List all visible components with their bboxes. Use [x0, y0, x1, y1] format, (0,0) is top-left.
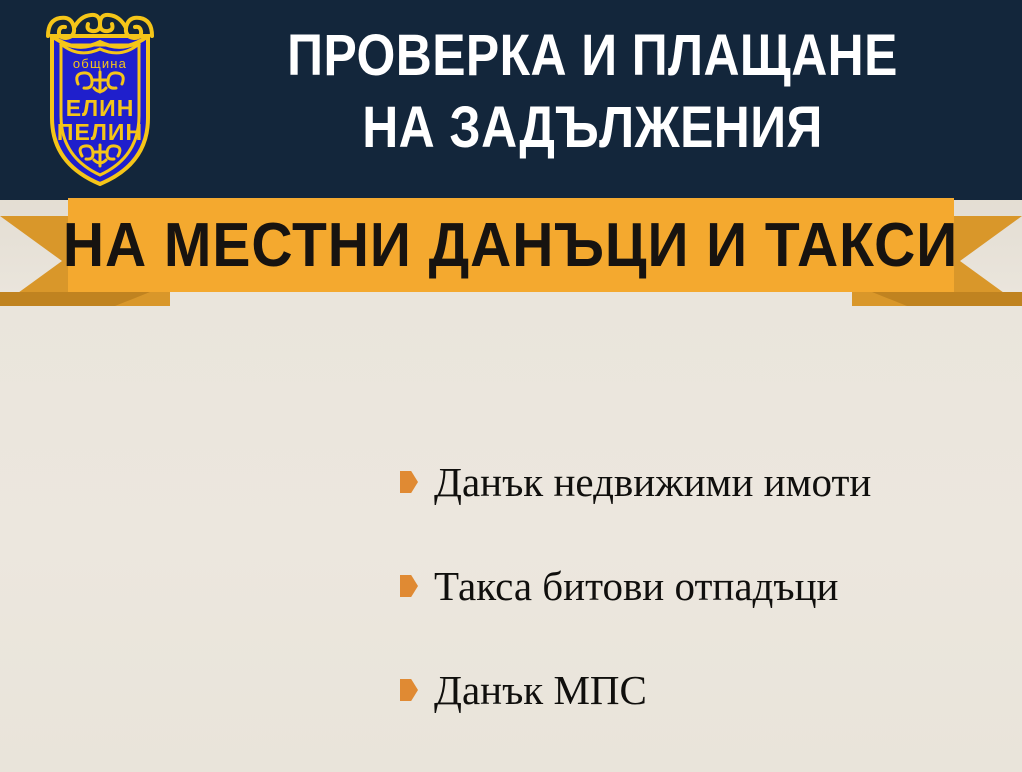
svg-text:ЕЛИН: ЕЛИН	[66, 95, 135, 121]
ribbon-subtitle: НА МЕСТНИ ДАНЪЦИ И ТАКСИ	[63, 210, 958, 281]
arrow-bullet-icon	[400, 575, 418, 597]
list-item-label: Данък недвижими имоти	[434, 458, 871, 506]
list-item[interactable]: Данък МПС	[400, 638, 1010, 742]
poster-canvas: ПРОВЕРКА И ПЛАЩАНЕ НА ЗАДЪЛЖЕНИЯ община	[0, 0, 1022, 772]
list-item-label: Данък МПС	[434, 666, 647, 714]
page-title: ПРОВЕРКА И ПЛАЩАНЕ НА ЗАДЪЛЖЕНИЯ	[233, 20, 951, 164]
list-item[interactable]: Такса битови отпадъци	[400, 534, 1010, 638]
ribbon-main-panel: НА МЕСТНИ ДАНЪЦИ И ТАКСИ	[68, 198, 954, 292]
municipality-logo: община ЕЛИН ПЕЛИН	[30, 6, 170, 191]
list-item[interactable]: Данък недвижими имоти	[400, 430, 1010, 534]
arrow-bullet-icon	[400, 679, 418, 701]
svg-text:община: община	[73, 56, 127, 71]
ribbon-banner: НА МЕСТНИ ДАНЪЦИ И ТАКСИ	[0, 196, 1022, 311]
svg-text:ПЕЛИН: ПЕЛИН	[57, 119, 143, 145]
coat-of-arms-icon: община ЕЛИН ПЕЛИН	[30, 6, 170, 191]
arrow-bullet-icon	[400, 471, 418, 493]
list-item-label: Такса битови отпадъци	[434, 562, 838, 610]
tax-type-list: Данък недвижими имоти Такса битови отпад…	[400, 430, 1010, 742]
